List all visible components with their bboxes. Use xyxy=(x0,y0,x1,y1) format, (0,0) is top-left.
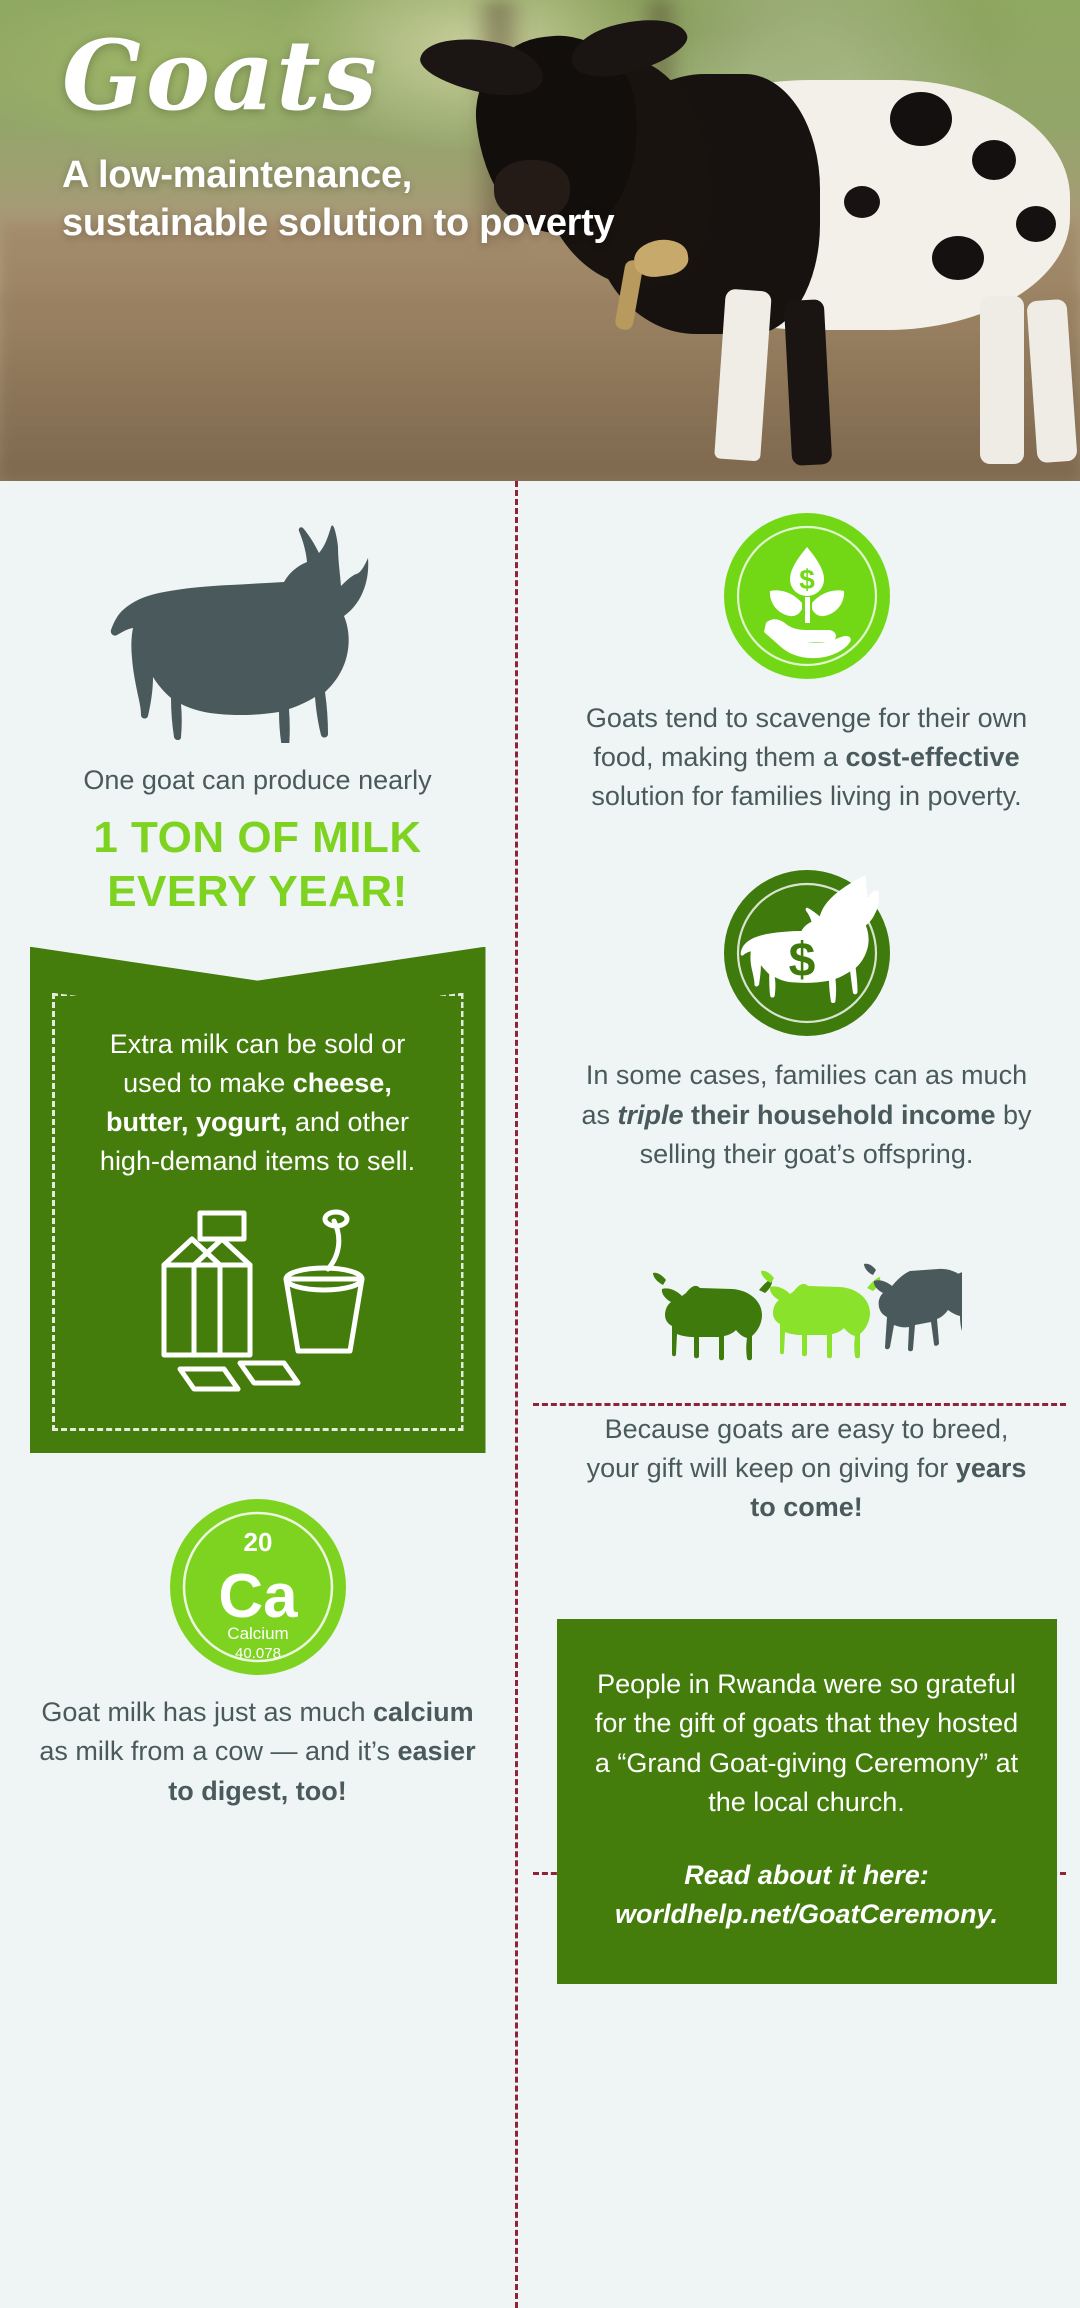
rwanda-ceremony-card: People in Rwanda were so grateful for th… xyxy=(557,1619,1057,1984)
vertical-dashed-divider xyxy=(515,481,518,2308)
calcium-name: Calcium xyxy=(227,1624,288,1643)
goat-silhouette-icon xyxy=(98,513,418,743)
ca-text-p2: as milk from a cow — and it’s xyxy=(39,1736,397,1766)
milk-headline-line2: EVERY YEAR! xyxy=(23,865,493,919)
triple-bold2: their household income xyxy=(683,1100,995,1130)
svg-text:$: $ xyxy=(799,564,815,595)
calcium-badge-icon: 20 Ca Calcium 40.078 xyxy=(168,1497,348,1677)
breed-p1: Because goats are easy to breed, your gi… xyxy=(587,1414,1009,1483)
scavenge-bold: cost-effective xyxy=(846,742,1020,772)
triple-income-text: In some cases, families can as much as t… xyxy=(577,1056,1037,1173)
calcium-atomic-number: 20 xyxy=(243,1527,272,1557)
rwanda-cta[interactable]: Read about it here: worldhelp.net/GoatCe… xyxy=(591,1856,1023,1934)
extra-milk-card: Extra milk can be sold or used to make c… xyxy=(30,947,486,1454)
milk-carton-yogurt-cheese-icon xyxy=(128,1203,388,1403)
ca-text-p1: Goat milk has just as much xyxy=(41,1697,373,1727)
svg-text:$: $ xyxy=(788,934,815,987)
milk-headline-line1: 1 TON OF MILK xyxy=(23,811,493,865)
rwanda-cta-line2[interactable]: worldhelp.net/GoatCeremony. xyxy=(615,1899,998,1929)
scavenge-text: Goats tend to scavenge for their own foo… xyxy=(577,699,1037,816)
milk-headline: 1 TON OF MILK EVERY YEAR! xyxy=(23,811,493,918)
hand-holding-money-plant-icon: $ xyxy=(722,511,892,681)
hero-subtitle: A low-maintenance, sustainable solution … xyxy=(62,151,622,248)
triple-bold-italic: triple xyxy=(617,1100,683,1130)
hero-text-group: Goats A low-maintenance, sustainable sol… xyxy=(62,26,622,248)
left-column: One goat can produce nearly 1 TON OF MIL… xyxy=(0,481,515,1811)
infographic-page: Goats A low-maintenance, sustainable sol… xyxy=(0,0,1080,2308)
hero-section: Goats A low-maintenance, sustainable sol… xyxy=(0,0,1080,481)
rwanda-text: People in Rwanda were so grateful for th… xyxy=(591,1665,1023,1822)
goat-with-dollar-sign-icon: $ xyxy=(722,868,892,1038)
scavenge-p2: solution for families living in poverty. xyxy=(591,781,1021,811)
rwanda-cta-line1: Read about it here: xyxy=(684,1860,929,1890)
breed-text: Because goats are easy to breed, your gi… xyxy=(577,1410,1037,1527)
right-column: $ Goats tend to scavenge for their own f… xyxy=(533,481,1080,1984)
three-goats-icon xyxy=(652,1262,962,1392)
hero-script-title: Goats xyxy=(62,26,622,127)
calcium-symbol: Ca xyxy=(218,1562,298,1631)
ca-text-bold1: calcium xyxy=(373,1697,474,1727)
milk-lead-text: One goat can produce nearly xyxy=(48,761,468,799)
calcium-mass: 40.078 xyxy=(235,1645,281,1662)
calcium-text: Goat milk has just as much calcium as mi… xyxy=(38,1693,478,1810)
extra-milk-text: Extra milk can be sold or used to make c… xyxy=(64,1011,452,1182)
